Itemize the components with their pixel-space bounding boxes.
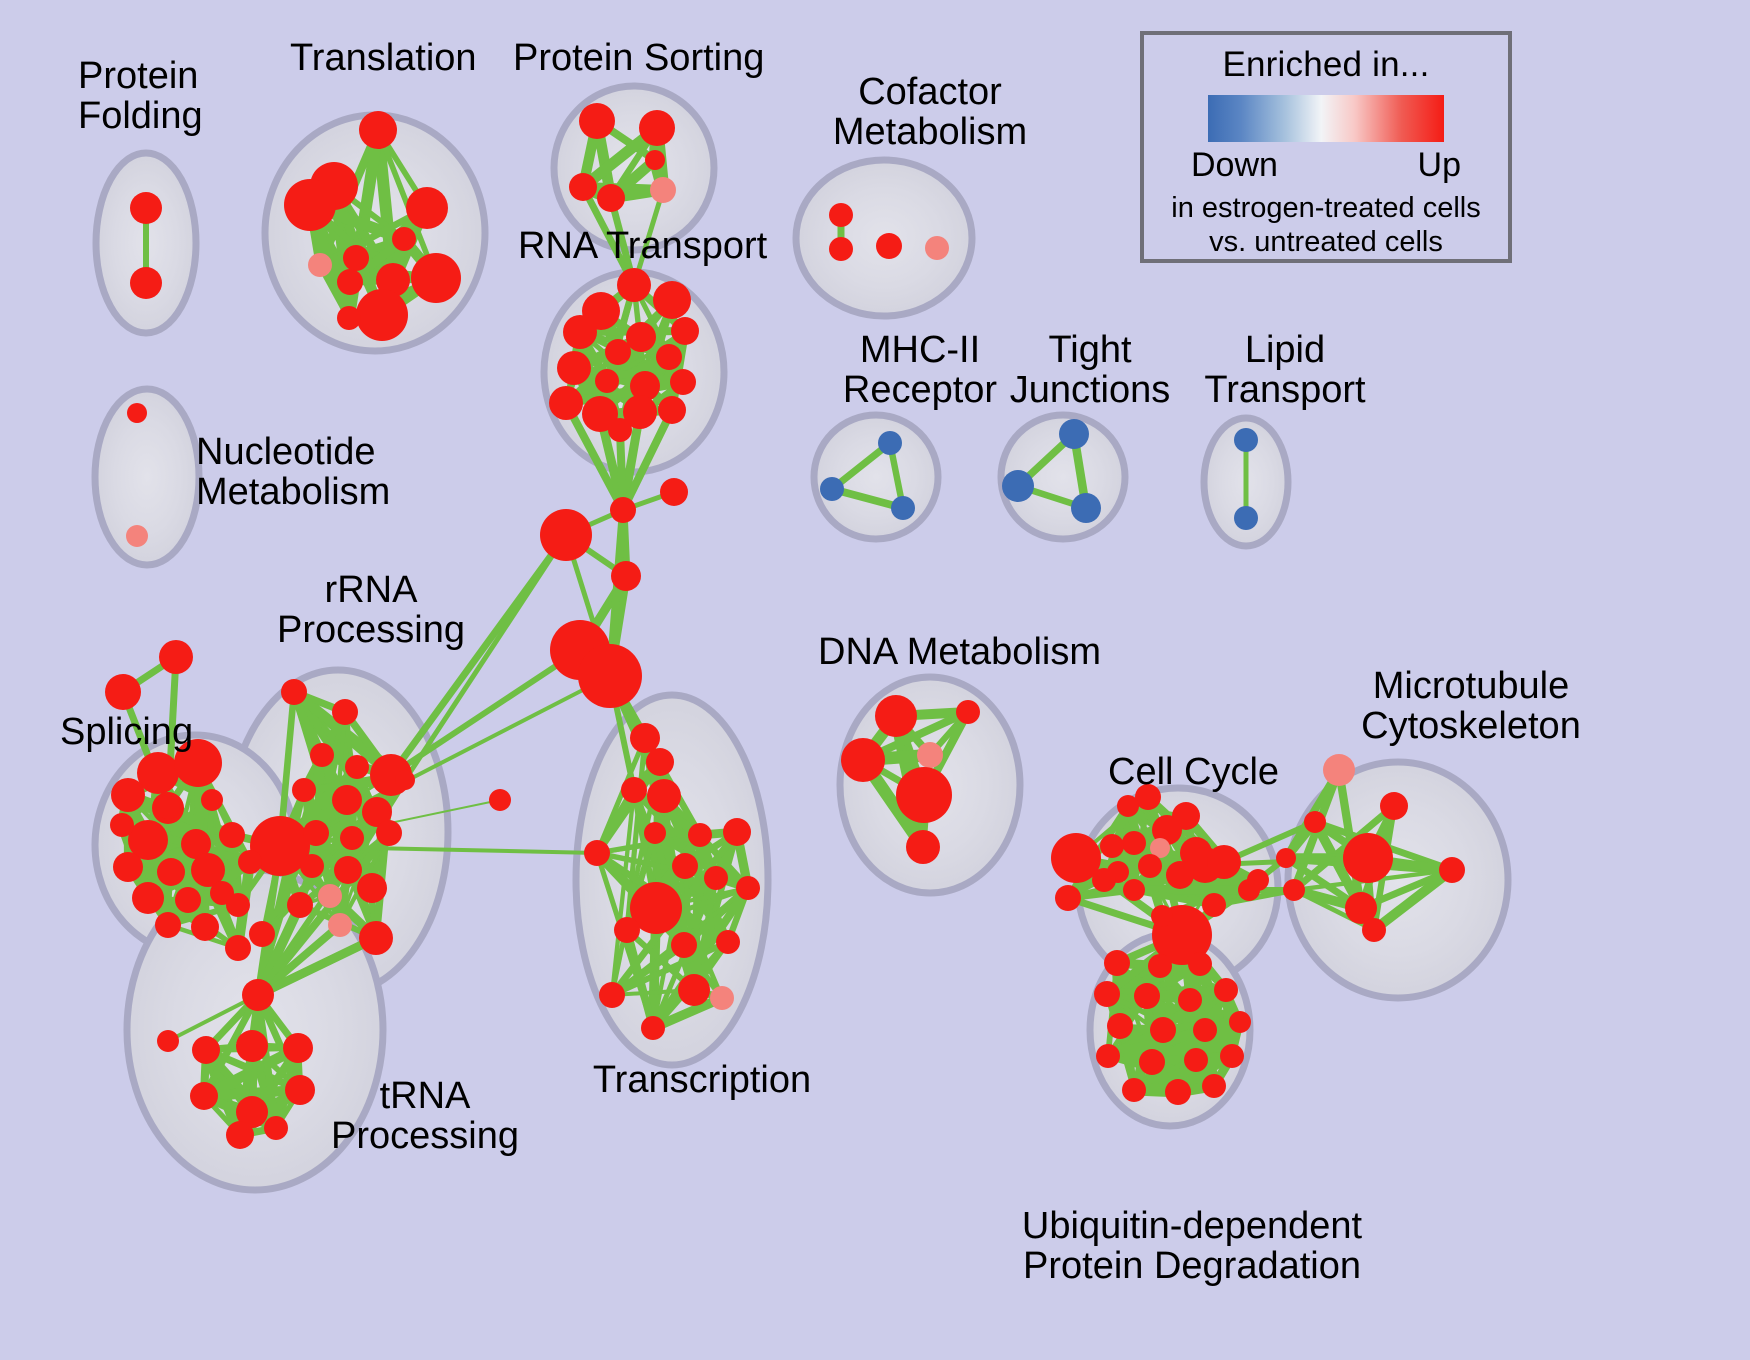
- network-node[interactable]: [621, 777, 647, 803]
- network-node[interactable]: [292, 778, 316, 802]
- network-node[interactable]: [287, 892, 313, 918]
- network-node[interactable]: [1122, 1078, 1146, 1102]
- network-node[interactable]: [1283, 879, 1305, 901]
- network-node[interactable]: [639, 110, 675, 146]
- network-node[interactable]: [650, 177, 676, 203]
- network-node[interactable]: [328, 913, 352, 937]
- network-node[interactable]: [579, 103, 615, 139]
- legend-title: Enriched in...: [1222, 45, 1429, 85]
- network-node[interactable]: [614, 917, 640, 943]
- cluster-label-translation: Translation: [290, 38, 520, 78]
- network-node[interactable]: [925, 236, 949, 260]
- network-node[interactable]: [1094, 981, 1120, 1007]
- network-node[interactable]: [159, 640, 193, 674]
- network-node[interactable]: [906, 830, 940, 864]
- network-node[interactable]: [710, 986, 734, 1010]
- network-node[interactable]: [281, 679, 307, 705]
- network-node[interactable]: [127, 403, 147, 423]
- network-node[interactable]: [110, 813, 134, 837]
- network-node[interactable]: [896, 767, 952, 823]
- network-node[interactable]: [829, 203, 853, 227]
- network-node[interactable]: [156, 795, 180, 819]
- network-node[interactable]: [653, 281, 691, 319]
- network-node[interactable]: [1059, 419, 1089, 449]
- legend-high-label: Up: [1418, 146, 1461, 185]
- network-node[interactable]: [356, 289, 408, 341]
- legend-caption-line2: vs. untreated cells: [1171, 225, 1481, 259]
- network-node[interactable]: [1104, 950, 1130, 976]
- network-node[interactable]: [820, 477, 844, 501]
- network-node[interactable]: [597, 184, 625, 212]
- network-node[interactable]: [1178, 988, 1202, 1012]
- network-node[interactable]: [605, 339, 631, 365]
- network-node[interactable]: [264, 1116, 288, 1140]
- network-node[interactable]: [678, 974, 710, 1006]
- network-node[interactable]: [130, 267, 162, 299]
- network-node[interactable]: [670, 369, 696, 395]
- network-node[interactable]: [557, 351, 591, 385]
- network-node[interactable]: [875, 695, 917, 737]
- network-node[interactable]: [917, 742, 943, 768]
- network-node[interactable]: [1202, 893, 1226, 917]
- cluster-label-ubiquitin: Ubiquitin-dependent Protein Degradation: [982, 1206, 1402, 1287]
- legend-color-gradient: [1208, 95, 1444, 142]
- network-node[interactable]: [201, 789, 223, 811]
- network-node[interactable]: [1055, 885, 1081, 911]
- cluster-ellipse-mhc-ii-receptor: [814, 415, 938, 539]
- network-node[interactable]: [113, 852, 143, 882]
- network-node[interactable]: [219, 822, 245, 848]
- network-node[interactable]: [1234, 428, 1258, 452]
- network-node[interactable]: [1193, 1018, 1217, 1042]
- network-node[interactable]: [645, 150, 665, 170]
- network-node[interactable]: [1100, 834, 1124, 858]
- network-node[interactable]: [157, 1030, 179, 1052]
- network-node[interactable]: [359, 921, 393, 955]
- network-node[interactable]: [1117, 795, 1139, 817]
- network-node[interactable]: [704, 866, 728, 890]
- network-node[interactable]: [392, 227, 416, 251]
- network-node[interactable]: [1165, 1079, 1191, 1105]
- cluster-label-lipid-transport: Lipid Transport: [1170, 330, 1400, 411]
- cluster-label-splicing: Splicing: [60, 712, 260, 752]
- cluster-label-protein-folding: Protein Folding: [78, 56, 268, 137]
- network-node[interactable]: [1096, 1044, 1120, 1068]
- enrichment-map-figure: Protein FoldingTranslationProtein Sortin…: [0, 0, 1750, 1360]
- network-node[interactable]: [157, 858, 185, 886]
- network-node[interactable]: [334, 856, 362, 884]
- cluster-label-trna-processing: tRNA Processing: [300, 1076, 550, 1157]
- network-node[interactable]: [1151, 905, 1173, 927]
- network-node[interactable]: [337, 269, 363, 295]
- network-node[interactable]: [111, 778, 145, 812]
- network-node[interactable]: [626, 322, 656, 352]
- network-node[interactable]: [332, 699, 358, 725]
- cluster-label-microtubule: Microtubule Cytoskeleton: [1306, 666, 1636, 747]
- network-node[interactable]: [190, 1082, 218, 1110]
- network-node[interactable]: [105, 674, 141, 710]
- network-node[interactable]: [671, 932, 697, 958]
- network-node[interactable]: [1188, 952, 1212, 976]
- network-node[interactable]: [249, 921, 275, 947]
- network-node[interactable]: [736, 876, 760, 900]
- network-node[interactable]: [1150, 1017, 1176, 1043]
- network-node[interactable]: [192, 1036, 220, 1064]
- network-node[interactable]: [878, 431, 902, 455]
- network-node[interactable]: [345, 755, 369, 779]
- cluster-label-transcription: Transcription: [572, 1060, 832, 1100]
- cluster-label-dna-metabolism: DNA Metabolism: [818, 632, 1118, 672]
- network-node[interactable]: [876, 233, 902, 259]
- network-node[interactable]: [284, 179, 336, 231]
- network-node[interactable]: [1071, 493, 1101, 523]
- network-node[interactable]: [841, 738, 885, 782]
- network-node[interactable]: [242, 979, 274, 1011]
- network-node[interactable]: [595, 369, 619, 393]
- network-node[interactable]: [658, 396, 686, 424]
- network-node[interactable]: [1122, 831, 1146, 855]
- network-node[interactable]: [1202, 1074, 1226, 1098]
- network-node[interactable]: [1092, 868, 1116, 892]
- network-node[interactable]: [1276, 848, 1296, 868]
- network-node[interactable]: [1148, 954, 1172, 978]
- cluster-label-nucleotide-metab: Nucleotide Metabolism: [196, 432, 496, 513]
- network-node[interactable]: [1134, 983, 1160, 1009]
- network-node[interactable]: [130, 192, 162, 224]
- network-node[interactable]: [191, 913, 219, 941]
- network-node[interactable]: [1166, 861, 1194, 889]
- network-node[interactable]: [1184, 1048, 1208, 1072]
- network-node[interactable]: [1123, 879, 1145, 901]
- network-node[interactable]: [303, 820, 329, 846]
- network-node[interactable]: [716, 930, 740, 954]
- network-node[interactable]: [238, 850, 262, 874]
- network-node[interactable]: [549, 386, 583, 420]
- network-node[interactable]: [1229, 1011, 1251, 1033]
- network-node[interactable]: [1002, 470, 1034, 502]
- network-node[interactable]: [155, 912, 181, 938]
- network-node[interactable]: [646, 748, 674, 776]
- network-node[interactable]: [395, 770, 415, 790]
- network-node[interactable]: [672, 853, 698, 879]
- network-node[interactable]: [226, 893, 250, 917]
- network-node[interactable]: [630, 723, 660, 753]
- network-node[interactable]: [1139, 1049, 1165, 1075]
- network-node[interactable]: [332, 785, 362, 815]
- legend-low-label: Down: [1191, 146, 1278, 185]
- legend-caption-line1: in estrogen-treated cells: [1171, 191, 1481, 225]
- cluster-label-cell-cycle: Cell Cycle: [1108, 752, 1328, 792]
- legend-panel: Enriched in... Down Up in estrogen-treat…: [1140, 31, 1512, 263]
- network-node[interactable]: [126, 525, 148, 547]
- network-node[interactable]: [406, 187, 448, 229]
- network-node[interactable]: [1304, 811, 1326, 833]
- cluster-label-rrna-processing: rRNA Processing: [246, 570, 496, 651]
- network-node[interactable]: [343, 245, 369, 271]
- cluster-label-cofactor-metab: Cofactor Metabolism: [795, 72, 1065, 153]
- network-node[interactable]: [236, 1030, 268, 1062]
- network-node[interactable]: [225, 935, 251, 961]
- network-node[interactable]: [891, 496, 915, 520]
- network-node[interactable]: [340, 826, 364, 850]
- network-node[interactable]: [641, 1016, 665, 1040]
- network-node[interactable]: [1343, 833, 1393, 883]
- network-node[interactable]: [300, 854, 324, 878]
- network-node[interactable]: [489, 789, 511, 811]
- network-node[interactable]: [656, 344, 682, 370]
- network-node[interactable]: [283, 1033, 313, 1063]
- network-node[interactable]: [611, 561, 641, 591]
- network-node[interactable]: [1238, 879, 1260, 901]
- network-node[interactable]: [660, 478, 688, 506]
- network-node[interactable]: [357, 873, 387, 903]
- network-node[interactable]: [1234, 506, 1258, 530]
- cluster-label-protein-sorting: Protein Sorting: [513, 38, 803, 78]
- network-node[interactable]: [337, 306, 361, 330]
- network-node[interactable]: [599, 982, 625, 1008]
- network-node[interactable]: [1362, 918, 1386, 942]
- network-node[interactable]: [1207, 845, 1241, 879]
- network-node[interactable]: [318, 884, 342, 908]
- network-node[interactable]: [578, 644, 642, 708]
- network-node[interactable]: [540, 509, 592, 561]
- cluster-label-tight-junctions: Tight Junctions: [985, 330, 1195, 411]
- network-node[interactable]: [608, 418, 632, 442]
- network-node[interactable]: [411, 253, 461, 303]
- network-node[interactable]: [310, 743, 334, 767]
- network-node[interactable]: [584, 840, 610, 866]
- network-node[interactable]: [644, 822, 666, 844]
- network-node[interactable]: [647, 779, 681, 813]
- network-node[interactable]: [1138, 854, 1162, 878]
- network-node[interactable]: [956, 700, 980, 724]
- network-node[interactable]: [569, 173, 597, 201]
- network-node[interactable]: [376, 820, 402, 846]
- network-node[interactable]: [671, 317, 699, 345]
- network-node[interactable]: [688, 823, 712, 847]
- cluster-label-rna-transport: RNA Transport: [518, 226, 808, 266]
- network-node[interactable]: [1107, 1013, 1133, 1039]
- network-node[interactable]: [1439, 857, 1465, 883]
- network-node[interactable]: [617, 268, 651, 302]
- network-node[interactable]: [226, 1121, 254, 1149]
- network-node[interactable]: [1220, 1044, 1244, 1068]
- network-node[interactable]: [308, 253, 332, 277]
- network-node[interactable]: [829, 237, 853, 261]
- network-node[interactable]: [723, 818, 751, 846]
- network-node[interactable]: [359, 111, 397, 149]
- network-node[interactable]: [610, 497, 636, 523]
- network-node[interactable]: [1380, 792, 1408, 820]
- network-node[interactable]: [563, 315, 597, 349]
- network-node[interactable]: [132, 882, 164, 914]
- network-node[interactable]: [175, 887, 201, 913]
- network-node[interactable]: [1214, 978, 1238, 1002]
